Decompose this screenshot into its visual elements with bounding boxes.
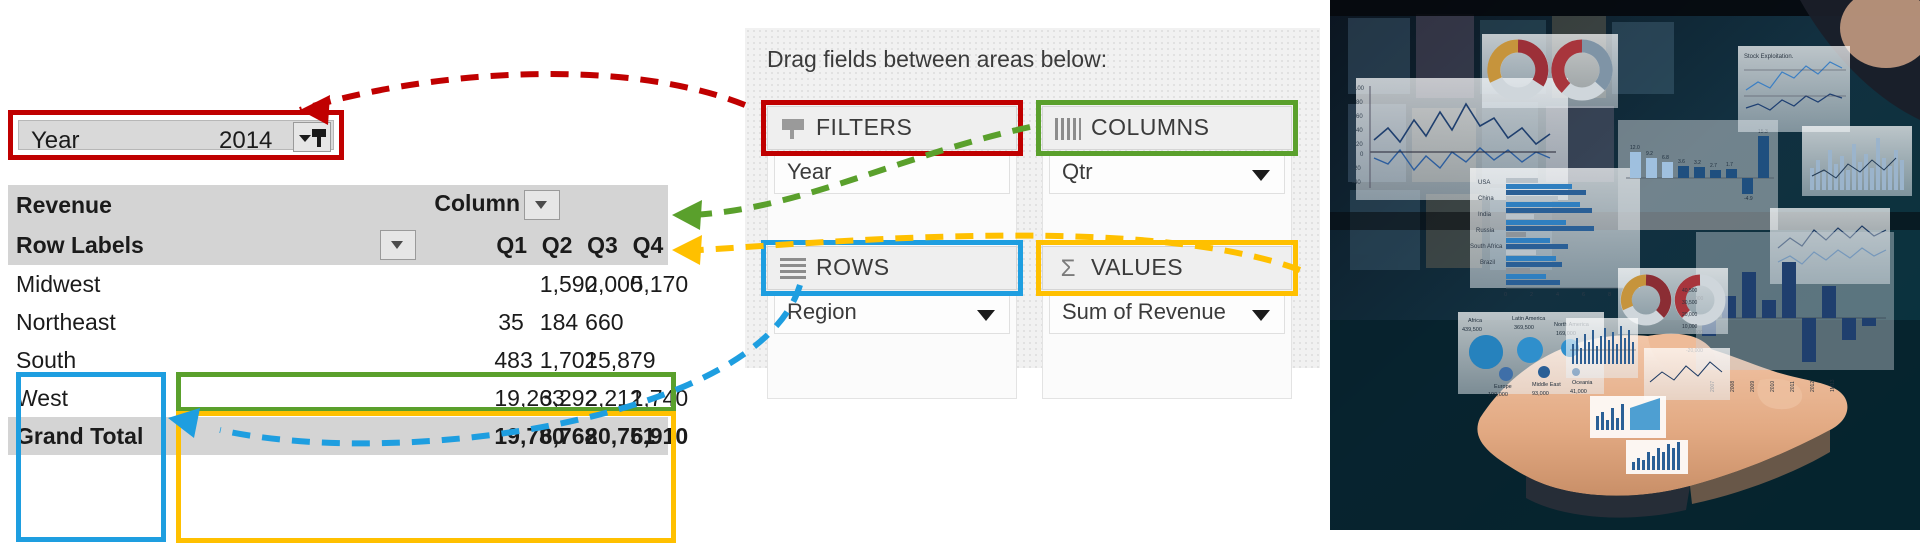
floating-column-chart: 12.09.26.8 3.63.22.7 1.7-4.915.3 [1618,120,1778,230]
svg-text:2011: 2011 [1790,381,1796,392]
floating-sparkline-panel [1566,318,1638,378]
svg-text:Africa: Africa [1468,318,1483,324]
svg-text:1M13: 1M13 [1830,379,1836,392]
svg-text:20: 20 [1356,142,1363,148]
svg-text:Oceania: Oceania [1572,380,1593,386]
svg-text:0: 0 [1504,292,1507,298]
svg-text:190,000: 190,000 [1488,392,1508,398]
svg-text:1.7: 1.7 [1726,162,1733,168]
svg-text:439,500: 439,500 [1462,327,1482,333]
svg-text:Europe: Europe [1494,384,1512,390]
arrow-filters [300,74,745,110]
svg-text:93,000: 93,000 [1532,391,1549,397]
svg-text:India: India [1478,212,1492,218]
svg-text:80: 80 [1356,100,1363,106]
svg-text:-4.9: -4.9 [1744,196,1753,202]
svg-text:USA: USA [1478,180,1490,186]
photo-svg: 1008060 40200 -20-40 [1330,0,1920,530]
svg-text:41,000: 41,000 [1570,389,1587,395]
svg-text:Middle East: Middle East [1532,382,1561,388]
svg-text:2008: 2008 [1730,381,1736,392]
svg-text:2010: 2010 [1770,381,1776,392]
floating-donut-charts [1482,34,1618,108]
business-analytics-photo: 1008060 40200 -20-40 [1330,0,1920,530]
svg-text:South Africa: South Africa [1470,244,1503,250]
arrow-values [700,236,1300,270]
svg-text:60: 60 [1356,114,1363,120]
svg-text:-40: -40 [1352,180,1361,186]
svg-text:3.2: 3.2 [1694,160,1701,166]
svg-text:3.6: 3.6 [1678,159,1685,165]
svg-text:6: 6 [1582,292,1585,298]
svg-text:Russia: Russia [1476,228,1495,234]
svg-text:Brazil: Brazil [1480,260,1495,266]
svg-text:Latin America: Latin America [1512,316,1546,322]
svg-text:4: 4 [1556,292,1559,298]
arrowhead-filters [300,95,330,125]
svg-text:Stock Exploitation.: Stock Exploitation. [1744,54,1794,60]
arrow-columns [690,127,1030,215]
svg-text:2.7: 2.7 [1710,163,1717,169]
svg-text:6.8: 6.8 [1662,155,1669,161]
screenshot-stage: Year 2014 Revenue Column Row L [0,0,1920,530]
floating-combo-chart [1802,126,1912,196]
svg-text:30,500: 30,500 [1682,300,1698,306]
arrowhead-columns [672,200,702,230]
arrowhead-values [672,235,702,265]
svg-text:40,500: 40,500 [1682,288,1698,294]
svg-text:2009: 2009 [1750,381,1756,392]
floating-bar-chart-countries: USAChinaIndia RussiaSouth AfricaBrazil [1470,168,1640,298]
svg-text:-20: -20 [1352,166,1361,172]
svg-text:10,000: 10,000 [1682,324,1698,330]
floating-stock-panel: Stock Exploitation. [1738,46,1850,132]
arrow-rows [220,285,800,443]
svg-text:40: 40 [1356,128,1363,134]
svg-text:369,500: 369,500 [1514,325,1534,331]
arrowhead-rows [168,408,200,438]
svg-text:China: China [1478,196,1494,202]
svg-text:2012: 2012 [1810,381,1816,392]
svg-text:100: 100 [1354,86,1365,92]
svg-text:20,000: 20,000 [1682,312,1698,318]
svg-text:9.2: 9.2 [1646,151,1653,157]
svg-text:12.0: 12.0 [1630,145,1640,151]
svg-text:8: 8 [1608,292,1611,298]
svg-text:2: 2 [1530,292,1533,298]
